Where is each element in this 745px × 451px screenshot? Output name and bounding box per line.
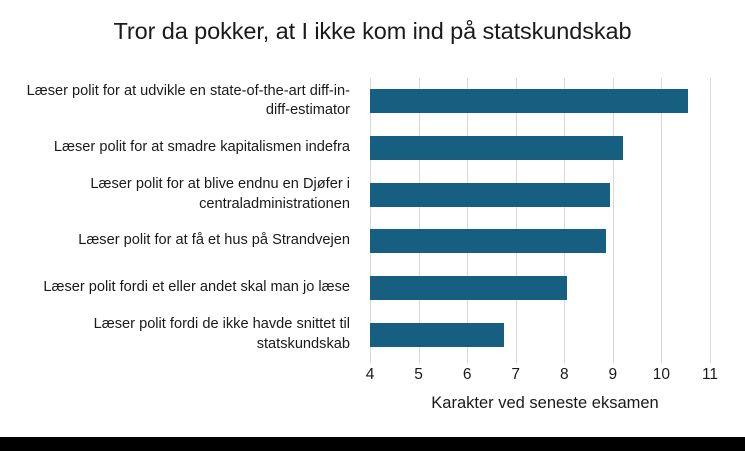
tick-mark: [419, 358, 420, 363]
gridline: [370, 78, 371, 358]
bar: [370, 276, 567, 300]
category-label: Læser polit fordi de ikke havde snittet …: [8, 315, 350, 354]
chart-title: Tror da pokker, at I ikke kom ind på sta…: [0, 16, 745, 46]
category-label: Læser polit for at blive endnu en Djøfer…: [8, 175, 350, 214]
tick-mark: [564, 358, 565, 363]
chart-container: Tror da pokker, at I ikke kom ind på sta…: [0, 0, 745, 451]
tick-mark: [370, 358, 371, 363]
x-axis-tick-label: 11: [680, 364, 740, 385]
tick-mark: [661, 358, 662, 363]
gridline: [516, 78, 517, 358]
tick-mark: [467, 358, 468, 363]
gridline: [613, 78, 614, 358]
gridline: [419, 78, 420, 358]
category-axis-labels: Læser polit for at udvikle en state-of-t…: [8, 78, 360, 358]
bar: [370, 229, 606, 253]
tick-mark: [710, 358, 711, 363]
gridline: [467, 78, 468, 358]
bottom-band: [0, 437, 745, 451]
bar: [370, 183, 610, 207]
x-axis-title: Karakter ved seneste eksamen: [360, 392, 730, 414]
gridline: [661, 78, 662, 358]
category-label: Læser polit for at udvikle en state-of-t…: [8, 82, 350, 121]
tick-mark: [516, 358, 517, 363]
tick-mark: [613, 358, 614, 363]
gridline: [564, 78, 565, 358]
gridline: [710, 78, 711, 358]
plot-area: [370, 78, 710, 358]
x-axis-tick-labels: 4567891011: [0, 364, 745, 388]
category-label: Læser polit for at få et hus på Strandve…: [8, 231, 350, 251]
category-label: Læser polit for at smadre kapitalismen i…: [8, 138, 350, 158]
bar: [370, 323, 504, 347]
category-label: Læser polit fordi et eller andet skal ma…: [8, 278, 350, 298]
bar: [370, 89, 688, 113]
bar: [370, 136, 623, 160]
